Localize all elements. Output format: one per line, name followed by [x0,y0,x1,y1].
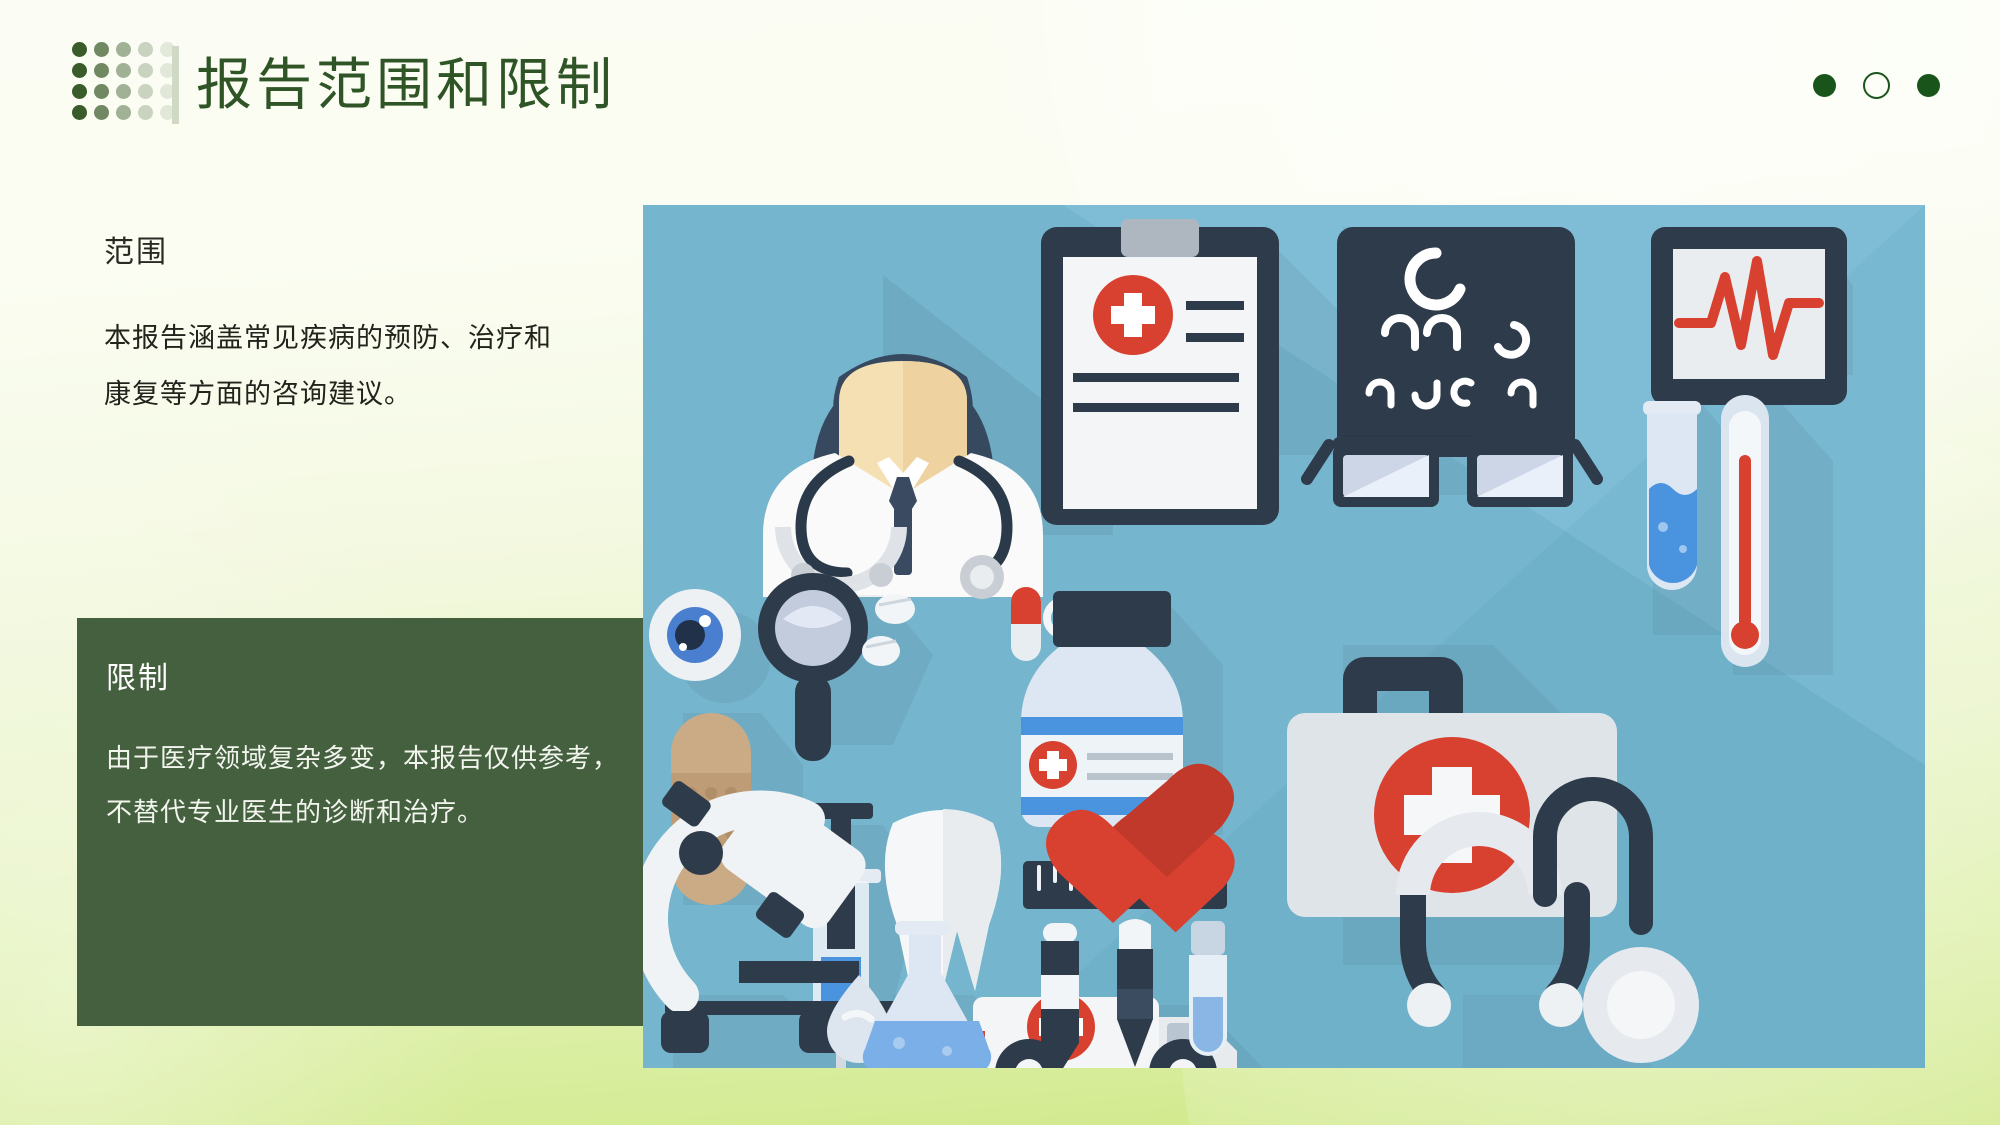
eye-chart-icon [1337,227,1575,455]
marker-icon [1041,923,1079,1068]
slide-header: 报告范围和限制 [0,0,2000,170]
page-dot-1-icon[interactable] [1813,74,1836,97]
limitation-body-text: 由于医疗领域复杂多变，本报告仅供参考，不替代专业医生的诊断和治疗。 [106,732,626,840]
medical-illustration-svg [643,205,1925,1068]
decorative-dot-grid-icon [72,42,182,126]
page-dot-3-icon[interactable] [1917,74,1940,97]
scope-heading: 范围 [104,234,574,272]
dropper-icon [1189,921,1227,1056]
page-title: 报告范围和限制 [196,48,616,124]
title-divider-rule [172,46,179,124]
ecg-monitor-icon [1651,227,1853,405]
page-indicator-dots[interactable] [1813,72,1940,99]
scope-section: 范围 本报告涵盖常见疾病的预防、治疗和康复等方面的咨询建议。 [104,234,574,422]
limitation-heading: 限制 [106,660,626,698]
capsule-icon [1011,587,1041,661]
page-dot-2-icon[interactable] [1863,72,1890,99]
scope-body-text: 本报告涵盖常见疾病的预防、治疗和康复等方面的咨询建议。 [104,310,574,422]
medical-illustration-panel [643,205,1925,1068]
slide-root: 报告范围和限制 范围 本报告涵盖常见疾病的预防、治疗和康复等方面的咨询建议。 限… [0,0,2000,1125]
limitation-card-content: 限制 由于医疗领域复杂多变，本报告仅供参考，不替代专业医生的诊断和治疗。 [106,660,626,840]
limitation-card: 限制 由于医疗领域复杂多变，本报告仅供参考，不替代专业医生的诊断和治疗。 [77,618,729,1026]
